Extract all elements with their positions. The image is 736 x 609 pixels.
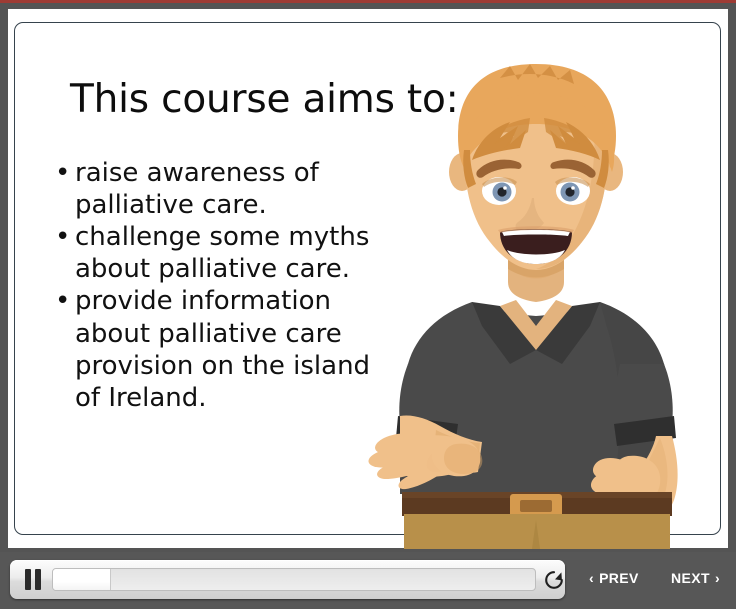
bullet-text: raise awareness of palliative care. [75, 158, 319, 220]
slide-navigation: ‹ PREV NEXT › [580, 552, 730, 609]
seek-slider[interactable] [52, 568, 536, 591]
chevron-left-icon: ‹ [589, 571, 594, 585]
bullet-text: provide information about palliative car… [75, 286, 370, 412]
prev-button-label: PREV [599, 570, 639, 586]
top-accent-line [0, 0, 736, 3]
playback-control-panel [10, 560, 565, 599]
cartoon-man-presenter-illustration [360, 64, 728, 549]
next-button[interactable]: NEXT › [671, 570, 720, 586]
list-item: • challenge some myths about palliative … [53, 221, 403, 285]
list-item: • raise awareness of palliative care. [53, 157, 403, 221]
play-pause-button[interactable] [20, 569, 46, 590]
bullet-marker-icon: • [55, 285, 70, 317]
chevron-right-icon: › [715, 571, 720, 585]
replay-button[interactable] [542, 568, 566, 592]
slide-bullet-list: • raise awareness of palliative care. • … [53, 157, 403, 414]
pause-icon [25, 569, 31, 590]
replay-icon [542, 568, 566, 592]
prev-button[interactable]: ‹ PREV [589, 570, 639, 586]
list-item: • provide information about palliative c… [53, 285, 403, 413]
bullet-text: challenge some myths about palliative ca… [75, 222, 369, 284]
slide-stage: This course aims to: • raise awareness o… [8, 9, 728, 548]
next-button-label: NEXT [671, 570, 710, 586]
bullet-marker-icon: • [55, 221, 70, 253]
seek-progress-fill [53, 569, 111, 590]
player-control-bar: ‹ PREV NEXT › [0, 552, 736, 609]
bullet-marker-icon: • [55, 157, 70, 189]
pause-icon [35, 569, 41, 590]
course-player-frame: This course aims to: • raise awareness o… [0, 0, 736, 609]
